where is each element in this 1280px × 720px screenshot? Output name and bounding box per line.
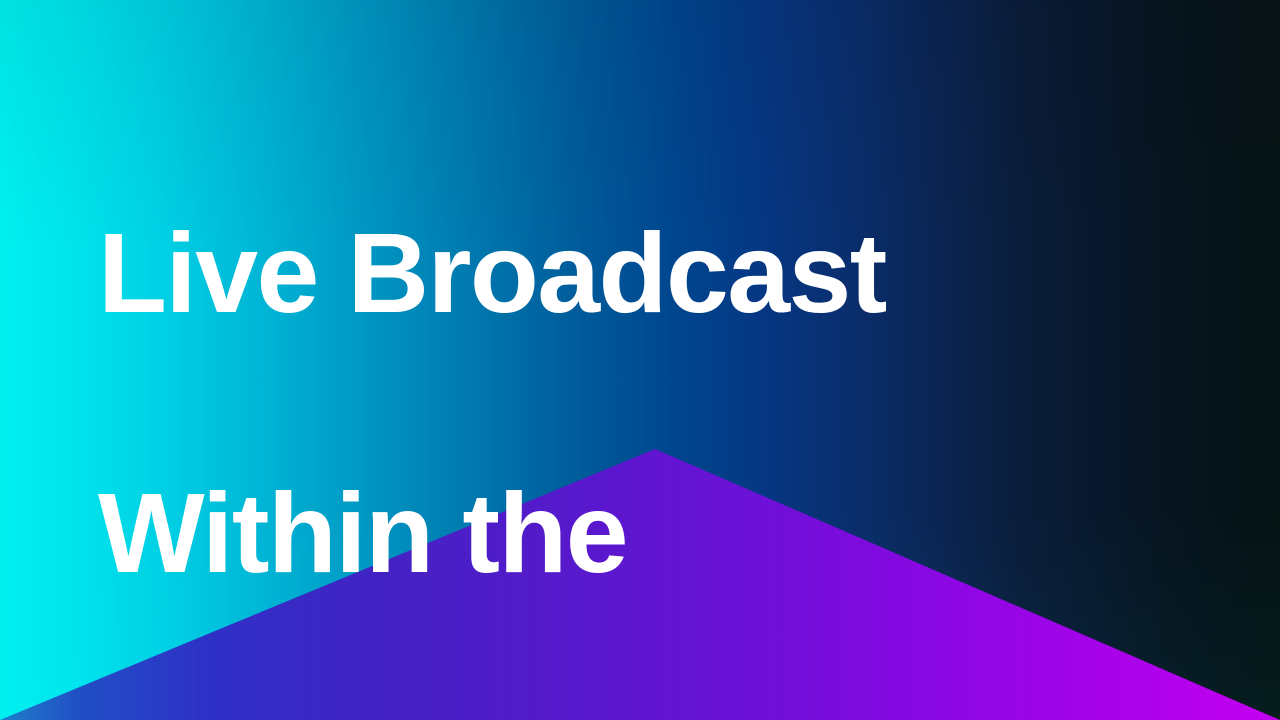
headline-line-2: Within the: [98, 468, 978, 598]
headline-line-1: Live Broadcast: [98, 208, 978, 338]
page-title: Live Broadcast Within the Metaverse: [98, 78, 978, 720]
title-slide: Live Broadcast Within the Metaverse: [0, 0, 1280, 720]
